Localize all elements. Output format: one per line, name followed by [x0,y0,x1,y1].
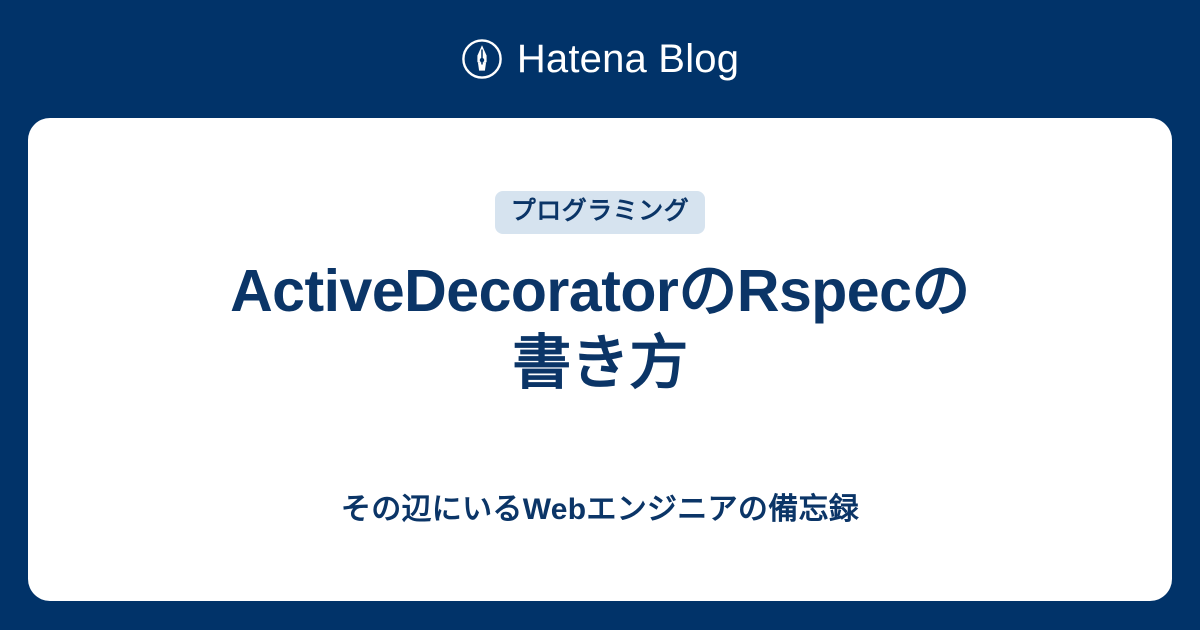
blog-title[interactable]: その辺にいるWebエンジニアの備忘録 [341,492,859,528]
entry-category-badge[interactable]: プログラミング [495,191,706,234]
pen-nib-circle-icon [461,38,503,80]
og-image-canvas: Hatena Blog プログラミング ActiveDecoratorのRspe… [0,0,1200,630]
entry-title: ActiveDecoratorのRspecの書き方 [230,256,970,400]
brand-name-label: Hatena Blog [517,39,739,79]
entry-card-inner: プログラミング ActiveDecoratorのRspecの書き方 その辺にいる… [88,191,1112,528]
hatena-blog-brand[interactable]: Hatena Blog [0,0,1200,118]
entry-title-line-2: 書き方 [512,330,688,396]
entry-title-line-1: ActiveDecoratorのRspecの [230,258,970,324]
entry-card: プログラミング ActiveDecoratorのRspecの書き方 その辺にいる… [28,118,1172,601]
